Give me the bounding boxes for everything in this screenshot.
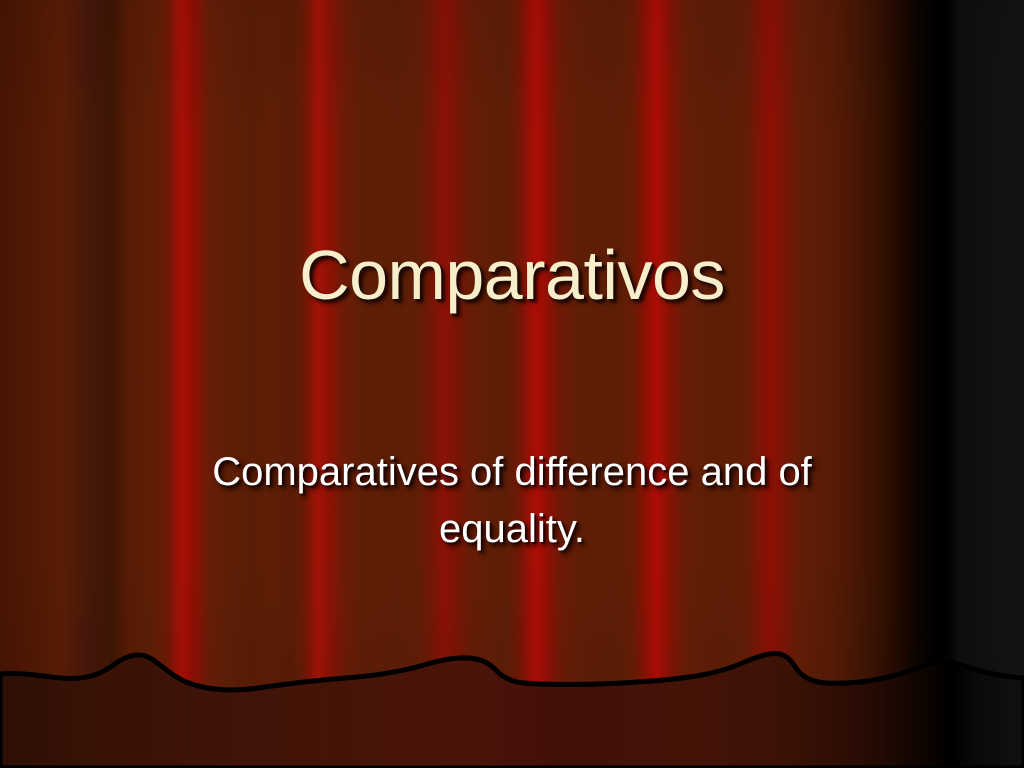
- presentation-slide: Comparativos Comparatives of difference …: [0, 0, 1024, 768]
- slide-title: Comparativos: [0, 238, 1024, 312]
- bottom-wave-decoration: [0, 638, 1024, 768]
- wave-ridge-path: [0, 654, 1024, 768]
- slide-subtitle: Comparatives of difference and of equali…: [135, 444, 889, 558]
